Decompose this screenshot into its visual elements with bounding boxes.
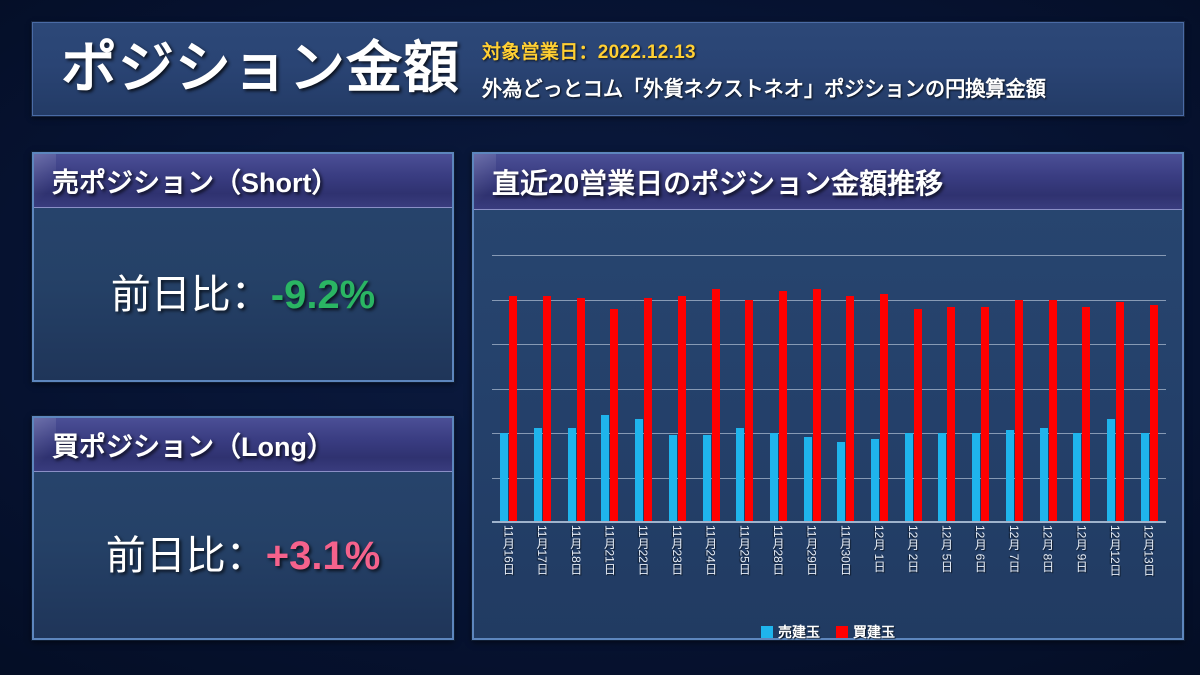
- x-axis-label: 11月17日: [534, 525, 551, 617]
- bar-short: [1006, 430, 1014, 521]
- bar-group: [863, 256, 897, 521]
- x-axis-label: 12月 8日: [1040, 525, 1057, 617]
- x-label-cell: 12月 1日: [863, 525, 897, 617]
- chart-area: 11月16日11月17日11月18日11月21日11月22日11月23日11月2…: [474, 210, 1182, 638]
- x-axis-label: 12月 9日: [1073, 525, 1090, 617]
- short-ratio-line: 前日比：-9.2%: [111, 262, 376, 320]
- bar-short: [703, 435, 711, 521]
- long-card-title: 買ポジション（Long）: [52, 425, 334, 464]
- short-card-title: 売ポジション（Short）: [52, 161, 339, 200]
- bar-long: [745, 300, 753, 521]
- x-label-cell: 12月 7日: [998, 525, 1032, 617]
- bar-long: [846, 296, 854, 521]
- chart-plot-area: [492, 256, 1166, 523]
- bar-group: [1031, 256, 1065, 521]
- x-label-cell: 12月 6日: [964, 525, 998, 617]
- x-label-cell: 12月 2日: [896, 525, 930, 617]
- bar-long: [543, 296, 551, 521]
- legend-label: 買建玉: [853, 622, 895, 642]
- bar-group: [930, 256, 964, 521]
- bar-long: [880, 294, 888, 521]
- chart-baseline-axis: [492, 521, 1166, 523]
- bar-short: [770, 433, 778, 521]
- x-label-cell: 11月17日: [526, 525, 560, 617]
- bar-short: [972, 433, 980, 521]
- bar-short: [1141, 433, 1149, 521]
- x-axis-label: 11月16日: [500, 525, 517, 617]
- bar-group: [627, 256, 661, 521]
- bar-long: [678, 296, 686, 521]
- x-label-cell: 11月22日: [627, 525, 661, 617]
- x-axis-label: 12月 1日: [871, 525, 888, 617]
- bar-group: [728, 256, 762, 521]
- bar-long: [712, 289, 720, 521]
- bar-long: [1049, 300, 1057, 521]
- bar-long: [644, 298, 652, 521]
- legend-label: 売建玉: [778, 622, 820, 642]
- bar-long: [1150, 305, 1158, 521]
- legend-item: 買建玉: [836, 622, 895, 642]
- short-ratio-value: -9.2%: [271, 273, 376, 317]
- bar-short: [601, 415, 609, 521]
- chart-legend: 売建玉買建玉: [474, 622, 1182, 642]
- x-axis-label: 11月28日: [770, 525, 787, 617]
- x-axis-label: 12月 6日: [972, 525, 989, 617]
- x-label-cell: 11月21日: [593, 525, 627, 617]
- chart-panel-title: 直近20営業日のポジション金額推移: [492, 162, 943, 202]
- target-business-date: 対象営業日：2022.12.13: [482, 37, 1069, 64]
- long-position-card: 買ポジション（Long） 前日比：+3.1%: [32, 416, 454, 640]
- chart-panel-header: 直近20営業日のポジション金額推移: [474, 154, 1182, 210]
- bar-short: [1073, 433, 1081, 521]
- x-axis-label: 12月 2日: [905, 525, 922, 617]
- x-axis-label: 11月25日: [736, 525, 753, 617]
- header-meta: 対象営業日：2022.12.13 外為どっとコム「外貨ネクストネオ」ポジションの…: [482, 37, 1069, 103]
- x-axis-label: 12月12日: [1107, 525, 1124, 617]
- bar-long: [947, 307, 955, 521]
- bar-group: [964, 256, 998, 521]
- bar-long: [1015, 300, 1023, 521]
- bar-group: [795, 256, 829, 521]
- bar-short: [871, 439, 879, 521]
- legend-swatch-icon: [761, 626, 773, 638]
- bar-short: [534, 428, 542, 521]
- short-position-card: 売ポジション（Short） 前日比：-9.2%: [32, 152, 454, 382]
- x-label-cell: 12月 9日: [1065, 525, 1099, 617]
- x-label-cell: 11月18日: [559, 525, 593, 617]
- x-label-cell: 12月 8日: [1031, 525, 1065, 617]
- long-card-body: 前日比：+3.1%: [34, 472, 452, 638]
- long-card-header: 買ポジション（Long）: [34, 418, 452, 472]
- short-card-header: 売ポジション（Short）: [34, 154, 452, 208]
- x-axis-label: 12月13日: [1141, 525, 1158, 617]
- bar-group: [1132, 256, 1166, 521]
- x-label-cell: 11月30日: [829, 525, 863, 617]
- short-card-body: 前日比：-9.2%: [34, 208, 452, 380]
- legend-swatch-icon: [836, 626, 848, 638]
- bar-group: [998, 256, 1032, 521]
- x-label-cell: 12月 5日: [930, 525, 964, 617]
- page-header: ポジション金額 対象営業日：2022.12.13 外為どっとコム「外貨ネクストネ…: [32, 22, 1184, 116]
- bar-short: [1107, 419, 1115, 521]
- bar-long: [610, 309, 618, 521]
- long-ratio-label: 前日比：: [106, 534, 266, 578]
- x-axis-label: 11月18日: [568, 525, 585, 617]
- x-axis-label: 11月21日: [601, 525, 618, 617]
- bar-group: [559, 256, 593, 521]
- bar-short: [500, 433, 508, 521]
- legend-item: 売建玉: [761, 622, 820, 642]
- header-subtitle: 外為どっとコム「外貨ネクストネオ」ポジションの円換算金額: [482, 73, 1046, 103]
- x-label-cell: 11月23日: [661, 525, 695, 617]
- bar-short: [837, 442, 845, 522]
- bar-short: [905, 433, 913, 521]
- x-label-cell: 11月28日: [762, 525, 796, 617]
- x-axis-label: 11月24日: [703, 525, 720, 617]
- x-label-cell: 11月16日: [492, 525, 526, 617]
- position-trend-chart-panel: 直近20営業日のポジション金額推移 11月16日11月17日11月18日11月2…: [472, 152, 1184, 640]
- x-label-cell: 11月29日: [795, 525, 829, 617]
- bar-group: [1099, 256, 1133, 521]
- short-ratio-label: 前日比：: [111, 273, 271, 317]
- bar-short: [736, 428, 744, 521]
- bar-long: [914, 309, 922, 521]
- chart-bars: [492, 256, 1166, 521]
- bar-short: [804, 437, 812, 521]
- bar-group: [762, 256, 796, 521]
- x-axis-label: 12月 7日: [1006, 525, 1023, 617]
- chart-x-axis-labels: 11月16日11月17日11月18日11月21日11月22日11月23日11月2…: [492, 525, 1166, 617]
- x-axis-label: 11月22日: [635, 525, 652, 617]
- bar-long: [577, 298, 585, 521]
- x-axis-label: 11月23日: [669, 525, 686, 617]
- bar-short: [1040, 428, 1048, 521]
- bar-long: [779, 291, 787, 521]
- x-label-cell: 12月13日: [1132, 525, 1166, 617]
- bar-group: [526, 256, 560, 521]
- long-ratio-value: +3.1%: [266, 534, 381, 578]
- bar-group: [661, 256, 695, 521]
- bar-short: [635, 419, 643, 521]
- bar-group: [1065, 256, 1099, 521]
- bar-group: [829, 256, 863, 521]
- bar-group: [896, 256, 930, 521]
- x-label-cell: 11月25日: [728, 525, 762, 617]
- bar-long: [813, 289, 821, 521]
- page-title: ポジション金額: [61, 41, 460, 97]
- x-label-cell: 11月24日: [694, 525, 728, 617]
- bar-group: [492, 256, 526, 521]
- bar-short: [568, 428, 576, 521]
- x-axis-label: 12月 5日: [938, 525, 955, 617]
- long-ratio-line: 前日比：+3.1%: [106, 523, 381, 581]
- bar-long: [1116, 302, 1124, 521]
- bar-long: [509, 296, 517, 521]
- bar-group: [694, 256, 728, 521]
- x-axis-label: 11月29日: [804, 525, 821, 617]
- x-label-cell: 12月12日: [1099, 525, 1133, 617]
- bar-short: [938, 433, 946, 521]
- x-axis-label: 11月30日: [837, 525, 854, 617]
- bar-group: [593, 256, 627, 521]
- bar-long: [1082, 307, 1090, 521]
- bar-long: [981, 307, 989, 521]
- bar-short: [669, 435, 677, 521]
